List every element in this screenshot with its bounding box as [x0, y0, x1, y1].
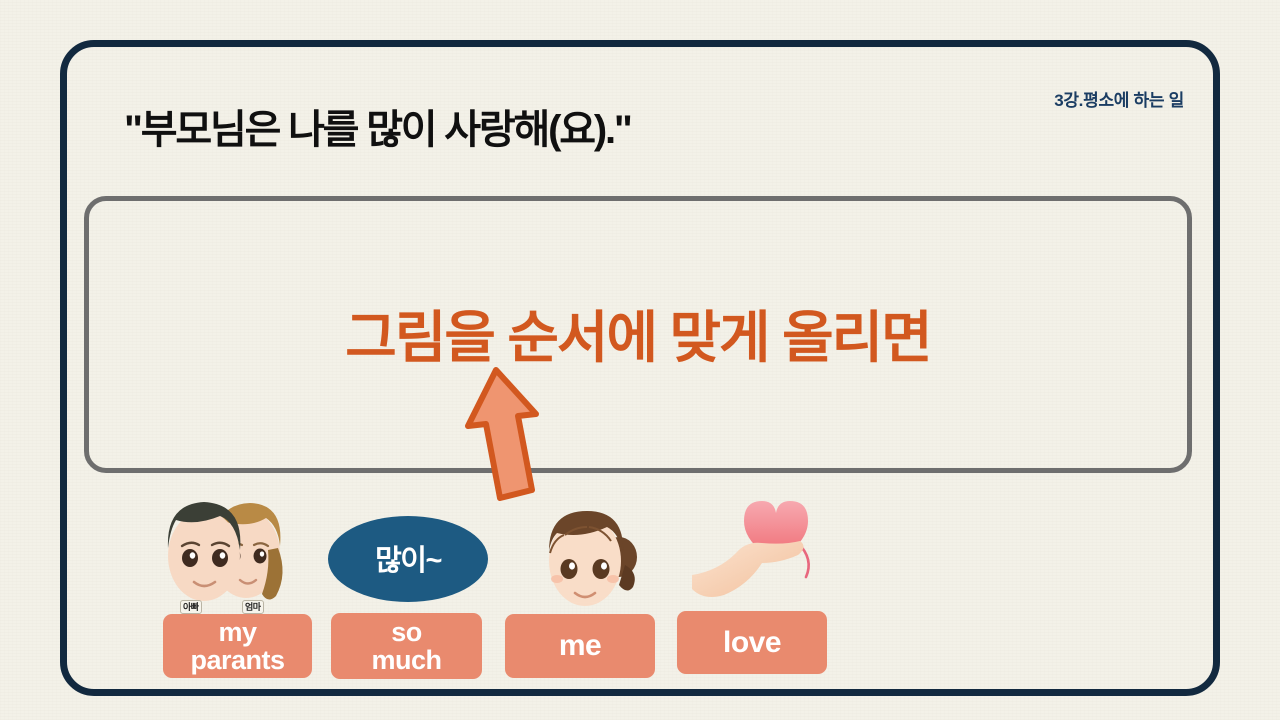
word-card-me[interactable]: me [505, 614, 655, 678]
page-title: "부모님은 나를 많이 사랑해(요)." [124, 97, 631, 155]
word-card-so-much[interactable]: so much [331, 613, 482, 679]
much-oval-badge[interactable]: 많이~ [328, 516, 488, 602]
lesson-tag: 3강.평소에 하는 일 [1054, 86, 1184, 111]
hand-holding-heart-icon [688, 489, 818, 613]
word-card-text: my parants [190, 618, 284, 674]
word-card-line2: much [371, 645, 441, 675]
much-oval-label: 많이~ [375, 537, 441, 579]
slide-canvas: 3강.평소에 하는 일 "부모님은 나를 많이 사랑해(요)." 그림을 순서에… [0, 0, 1280, 720]
word-card-love[interactable]: love [677, 611, 827, 674]
word-card-text: me [559, 630, 601, 661]
parents-faces-icon [158, 492, 290, 622]
instruction-text: 그림을 순서에 맞게 올리면 [89, 293, 1187, 374]
word-card-line1: my [218, 617, 256, 647]
word-card-text: so much [371, 618, 441, 674]
answer-drop-area[interactable]: 그림을 순서에 맞게 올리면 [84, 196, 1192, 473]
mom-label: 엄마 [242, 600, 264, 614]
up-arrow-icon [452, 362, 562, 502]
word-card-line2: parants [190, 645, 284, 675]
girl-face-icon [535, 503, 645, 615]
dad-label: 아빠 [180, 600, 202, 614]
word-card-my-parants[interactable]: my parants [163, 614, 312, 678]
word-card-line1: so [391, 617, 422, 647]
word-card-text: love [723, 627, 781, 658]
